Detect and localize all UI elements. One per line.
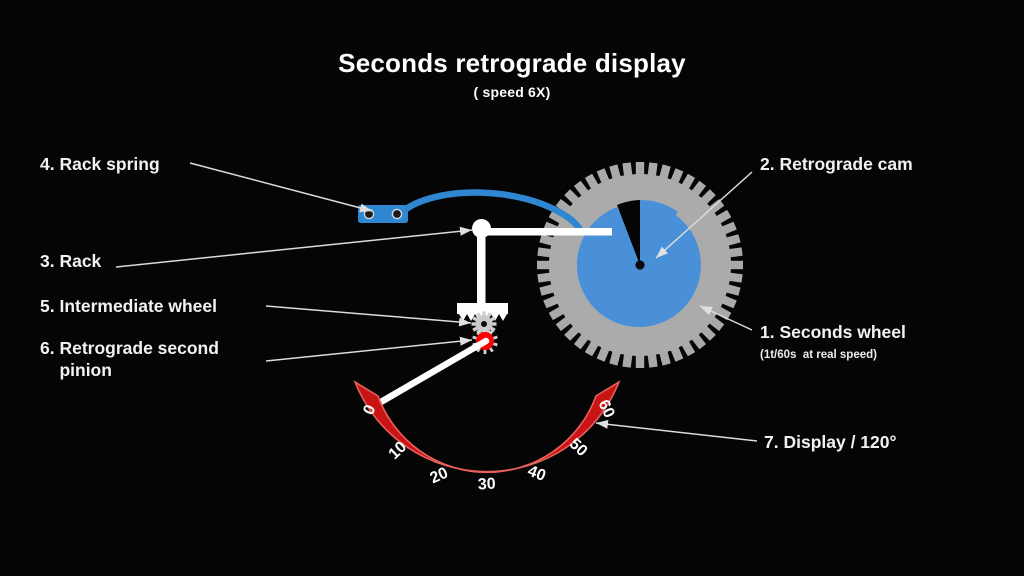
label-rack: 3. Rack <box>40 251 101 273</box>
label-retrograde-cam: 2. Retrograde cam <box>760 154 913 176</box>
tick-20: 20 <box>428 464 451 487</box>
leader-display <box>596 423 757 441</box>
retrograde-seconds-hand <box>374 341 486 406</box>
page-title: Seconds retrograde display <box>0 48 1024 79</box>
label-seconds-wheel-note: (1t/60s at real speed) <box>760 348 877 362</box>
leader-rack-spring <box>190 163 372 211</box>
retrograde-display-arc: 0 10 20 30 40 50 60 <box>355 382 619 493</box>
label-display: 7. Display / 120° <box>764 432 897 454</box>
leader-intermediate-wheel <box>266 306 471 323</box>
label-rack-spring: 4. Rack spring <box>40 154 160 176</box>
label-retrograde-second-pinion: 6. Retrograde second pinion <box>40 338 219 382</box>
tick-30: 30 <box>477 476 496 494</box>
diagram-canvas: 0 10 20 30 40 50 60 Seconds retrograde d… <box>0 0 1024 576</box>
page-subtitle: ( speed 6X) <box>0 84 1024 100</box>
label-intermediate-wheel: 5. Intermediate wheel <box>40 296 217 318</box>
label-seconds-wheel: 1. Seconds wheel <box>760 322 906 344</box>
scale-tick-labels: 0 10 20 30 40 50 60 <box>360 397 617 493</box>
leader-rack <box>116 230 472 267</box>
leader-pinion <box>266 340 472 361</box>
